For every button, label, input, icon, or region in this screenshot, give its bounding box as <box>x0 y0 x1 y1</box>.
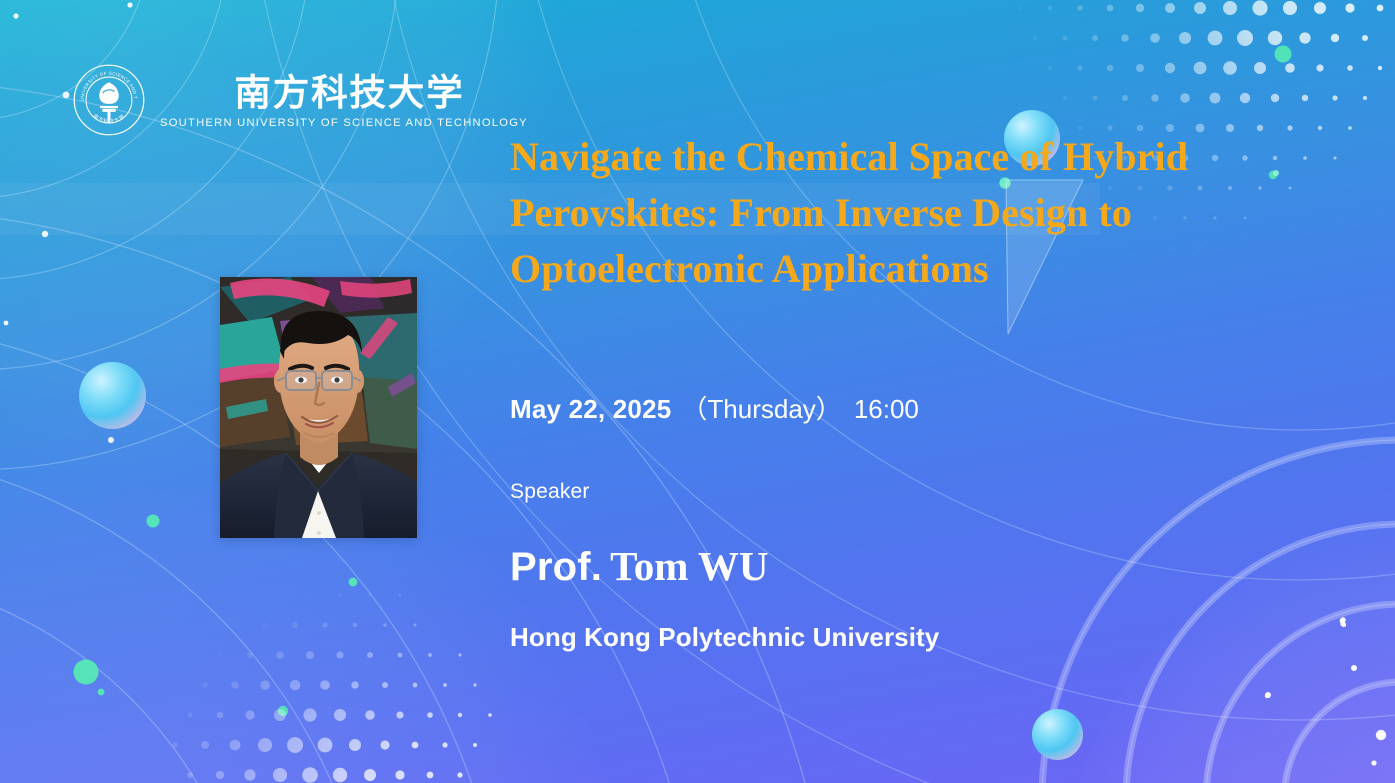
sustech-seal-icon: SOUTHERN UNIVERSITY OF SCIENCE AND TECHN… <box>72 63 146 137</box>
speaker-affiliation: Hong Kong Polytechnic University <box>510 622 939 653</box>
seminar-poster: SOUTHERN UNIVERSITY OF SCIENCE AND TECHN… <box>0 0 1395 783</box>
event-weekday: （Thursday） <box>681 394 841 424</box>
speaker-portrait-photo <box>220 277 417 538</box>
logo-cn-text: 南方科技大学 <box>234 72 464 113</box>
speaker-title-prefix: Prof. <box>510 545 602 589</box>
speaker-full-name: Tom WU <box>610 543 768 589</box>
logo-chinese-name-icon: 南方科技大学 <box>160 72 528 114</box>
event-date: May 22, 2025 <box>510 394 671 424</box>
gradient-sphere-left <box>79 362 146 429</box>
event-datetime: May 22, 2025（Thursday）16:00 <box>510 389 919 426</box>
speaker-label: Speaker <box>510 480 590 504</box>
event-time: 16:00 <box>854 394 919 424</box>
poster-content: Navigate the Chemical Space of Hybrid Pe… <box>510 0 1340 783</box>
portrait-illustration <box>220 277 417 538</box>
dot-matrix-bottom-left <box>172 563 492 782</box>
logo-english-name: SOUTHERN UNIVERSITY OF SCIENCE AND TECHN… <box>160 117 528 129</box>
speaker-name: Prof.Tom WU <box>510 542 768 590</box>
university-logo: SOUTHERN UNIVERSITY OF SCIENCE AND TECHN… <box>72 63 528 137</box>
logo-wordmark: 南方科技大学 SOUTHERN UNIVERSITY OF SCIENCE AN… <box>160 72 528 129</box>
talk-title: Navigate the Chemical Space of Hybrid Pe… <box>510 129 1310 297</box>
